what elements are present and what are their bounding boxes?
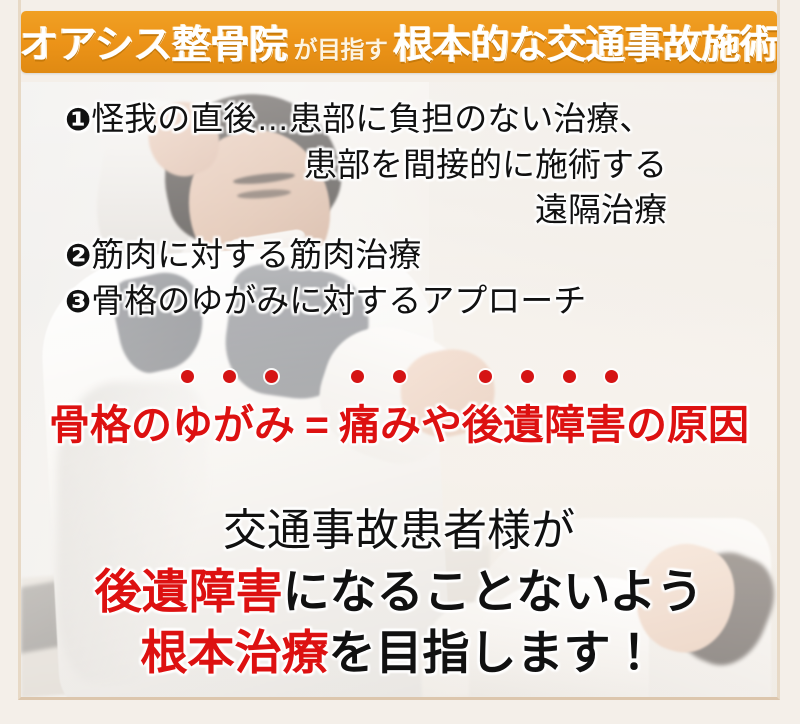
emphasis-equation: 骨格のゆがみ=痛みや後遺障害の原因	[21, 370, 777, 451]
closing-line-2-rest: になることないよう	[283, 565, 704, 618]
closing-line-1: 交通事故患者様が	[21, 500, 777, 561]
emphasis-equation-text: 骨格のゆがみ=痛みや後遺障害の原因	[21, 391, 777, 451]
list-item-1-text-1: 怪我の直後…患部に負担のない治療、	[91, 100, 652, 137]
emphasis-dot	[479, 370, 492, 383]
header-connector: が目指す	[293, 30, 387, 65]
promo-poster: オアシス整骨院 が目指す 根本的な交通事故施術 ❶怪我の直後…患部に負担のない治…	[0, 0, 800, 724]
list-marker-2: ❷	[65, 238, 91, 273]
emphasis-dot	[393, 370, 406, 383]
list-marker-1: ❶	[65, 102, 91, 137]
emphasis-dot	[351, 370, 364, 383]
poster-content: ❶怪我の直後…患部に負担のない治療、 患部を間接的に施術する 遠隔治療 ❷筋肉に…	[21, 82, 777, 698]
closing-statement: 交通事故患者様が 後遺障害になることないよう 根本治療を目指します！	[21, 500, 777, 683]
emphasis-left-term: 骨格のゆがみ	[49, 402, 295, 448]
header-text: オアシス整骨院 が目指す 根本的な交通事故施術	[20, 14, 779, 70]
closing-line-3-red: 根本治療	[141, 626, 329, 679]
header-banner: オアシス整骨院 が目指す 根本的な交通事故施術	[21, 11, 777, 73]
list-item-2-text: 筋肉に対する筋肉治療	[91, 236, 421, 273]
list-item-3: ❸骨格のゆがみに対するアプローチ	[65, 278, 765, 324]
emphasis-dot	[605, 370, 618, 383]
emphasis-dot	[265, 370, 278, 383]
list-item-1-line-1: ❶怪我の直後…患部に負担のない治療、	[65, 96, 765, 142]
emphasis-dot	[563, 370, 576, 383]
list-item-3-text: 骨格のゆがみに対するアプローチ	[91, 282, 586, 319]
closing-line-2: 後遺障害になることないよう	[21, 561, 777, 622]
treatment-list: ❶怪我の直後…患部に負担のない治療、 患部を間接的に施術する 遠隔治療 ❷筋肉に…	[65, 96, 765, 324]
emphasis-right-term: 痛みや後遺障害の原因	[339, 402, 749, 448]
list-item-2: ❷筋肉に対する筋肉治療	[65, 232, 765, 278]
emphasis-dots	[21, 370, 777, 390]
header-tagline: 根本的な交通事故施術	[393, 14, 778, 70]
closing-line-3: 根本治療を目指します！	[21, 622, 777, 683]
clinic-name: オアシス整骨院	[20, 14, 288, 70]
closing-line-3-rest: を目指します！	[329, 626, 658, 679]
emphasis-dot	[521, 370, 534, 383]
emphasis-equals: =	[305, 402, 329, 448]
emphasis-dot	[181, 370, 194, 383]
list-item-1-line-2: 患部を間接的に施術する	[65, 142, 765, 187]
emphasis-dot	[223, 370, 236, 383]
list-marker-3: ❸	[65, 284, 91, 319]
closing-line-2-red: 後遺障害	[95, 565, 283, 618]
list-item-1-line-3: 遠隔治療	[65, 187, 765, 232]
